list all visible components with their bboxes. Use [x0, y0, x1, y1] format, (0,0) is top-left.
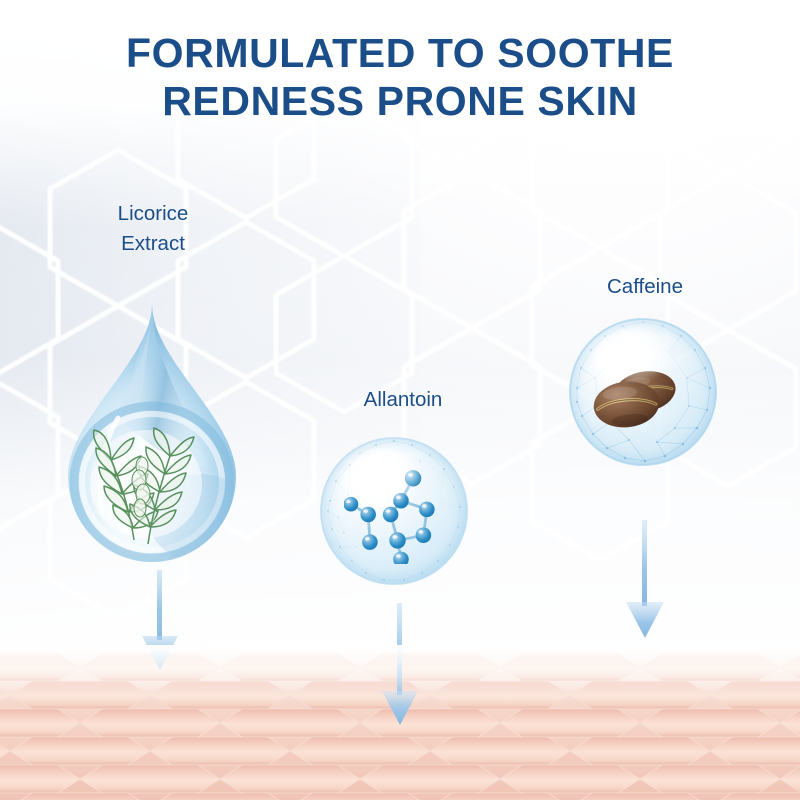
arrow-down-allantoin — [372, 603, 428, 728]
label-licorice-extract: Licorice Extract — [58, 199, 248, 258]
label-caffeine: Caffeine — [560, 272, 730, 302]
water-droplet-icon — [62, 300, 242, 568]
label-allantoin: Allantoin — [318, 385, 488, 415]
caffeine-sphere — [569, 318, 717, 466]
sphere-gloss-highlight — [596, 331, 670, 380]
ingredient-infographic: FORMULATED TO SOOTHE REDNESS PRONE SKIN — [0, 0, 800, 800]
licorice-droplet — [62, 300, 242, 568]
arrow-down-licorice — [132, 570, 188, 675]
allantoin-sphere — [320, 437, 468, 585]
coffee-beans-icon — [590, 371, 700, 436]
sphere-gloss-highlight — [347, 450, 421, 499]
page-title: FORMULATED TO SOOTHE REDNESS PRONE SKIN — [0, 30, 800, 126]
arrow-down-caffeine — [617, 520, 673, 640]
